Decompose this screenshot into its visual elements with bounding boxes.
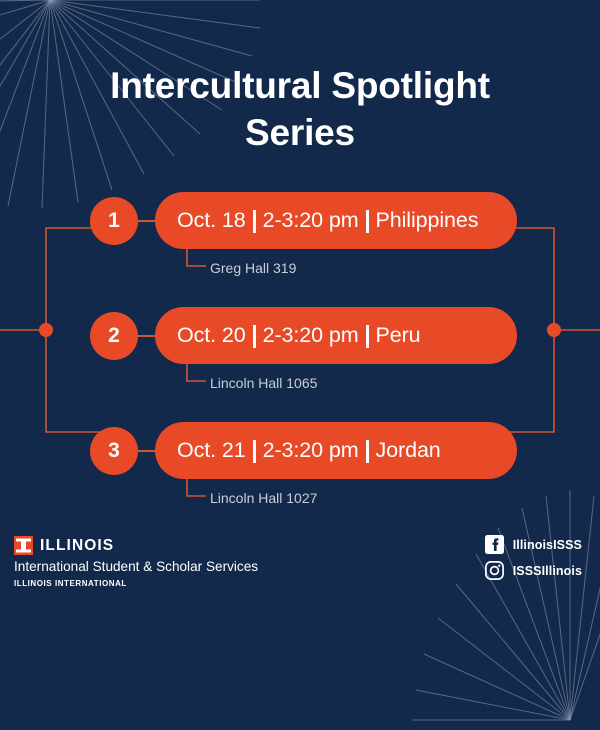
page-title: Intercultural Spotlight Series [0, 62, 600, 157]
instagram-icon[interactable] [485, 561, 504, 580]
divider-bar-icon [366, 325, 369, 348]
row-number-label: 2 [108, 324, 120, 348]
event-date: Oct. 18 [177, 208, 246, 233]
divider-bar-icon [366, 440, 369, 463]
event-text: Oct. 18 2-3:20 pm Philippines [177, 208, 478, 233]
timeline-row[interactable]: 1 Oct. 18 2-3:20 pm Philippines Greg Hal… [0, 192, 600, 292]
divider-bar-icon [253, 440, 256, 463]
divider-bar-icon [366, 210, 369, 233]
event-text: Oct. 20 2-3:20 pm Peru [177, 323, 421, 348]
event-pill[interactable]: Oct. 18 2-3:20 pm Philippines [155, 192, 517, 249]
row-number-badge: 1 [90, 197, 138, 245]
row-connector-stub [138, 335, 156, 337]
event-pill[interactable]: Oct. 21 2-3:20 pm Jordan [155, 422, 517, 479]
event-location-label: Lincoln Hall 1027 [210, 490, 317, 506]
row-number-label: 1 [108, 209, 120, 233]
logo-lockup: ILLINOIS [14, 536, 258, 555]
row-connector-stub [138, 220, 156, 222]
event-date: Oct. 20 [177, 323, 246, 348]
divider-bar-icon [253, 325, 256, 348]
logo-wordmark: ILLINOIS [40, 537, 114, 555]
facebook-icon[interactable] [485, 535, 504, 554]
divider-bar-icon [253, 210, 256, 233]
footer-tagline: ILLINOIS INTERNATIONAL [14, 579, 258, 588]
social-row-instagram[interactable]: ISSSIllinois [485, 561, 582, 580]
event-time: 2-3:20 pm [263, 323, 359, 348]
social-links: IllinoisISSS ISSSIllinois [485, 535, 582, 580]
row-number-badge: 3 [90, 427, 138, 475]
facebook-handle[interactable]: IllinoisISSS [513, 538, 582, 552]
timeline-row[interactable]: 2 Oct. 20 2-3:20 pm Peru Lincoln Hall 10… [0, 307, 600, 407]
footer-logo-block: ILLINOIS International Student & Scholar… [14, 536, 258, 588]
event-country: Peru [376, 323, 421, 348]
footer-unit-name: International Student & Scholar Services [14, 559, 258, 574]
poster-canvas: Intercultural Spotlight Series 1 Oct. 18… [0, 0, 600, 600]
timeline-row[interactable]: 3 Oct. 21 2-3:20 pm Jordan Lincoln Hall … [0, 422, 600, 522]
event-time: 2-3:20 pm [263, 438, 359, 463]
social-row-facebook[interactable]: IllinoisISSS [485, 535, 582, 554]
event-pill[interactable]: Oct. 20 2-3:20 pm Peru [155, 307, 517, 364]
event-location-label: Greg Hall 319 [210, 260, 296, 276]
event-location-label: Lincoln Hall 1065 [210, 375, 317, 391]
row-number-label: 3 [108, 439, 120, 463]
event-country: Jordan [376, 438, 441, 463]
event-text: Oct. 21 2-3:20 pm Jordan [177, 438, 441, 463]
instagram-handle[interactable]: ISSSIllinois [513, 564, 582, 578]
event-country: Philippines [376, 208, 479, 233]
illinois-block-i-icon [14, 536, 33, 555]
elbow-connector-icon [186, 249, 208, 273]
elbow-connector-icon [186, 479, 208, 503]
event-date: Oct. 21 [177, 438, 246, 463]
row-number-badge: 2 [90, 312, 138, 360]
row-connector-stub [138, 450, 156, 452]
elbow-connector-icon [186, 364, 208, 388]
event-time: 2-3:20 pm [263, 208, 359, 233]
